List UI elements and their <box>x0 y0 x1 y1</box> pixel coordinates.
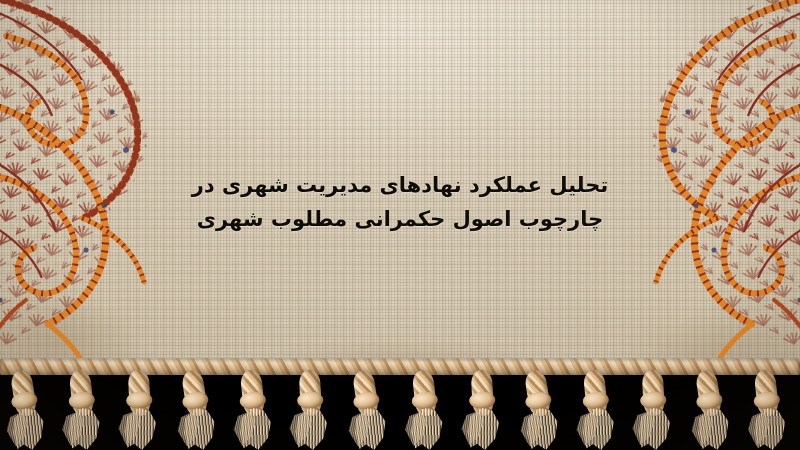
title-line-1: تحلیل عملکرد نهادهای مدیریت شهری در <box>150 168 650 202</box>
tassel <box>400 368 458 450</box>
tassel <box>340 367 402 450</box>
tassel-fringe <box>0 368 800 450</box>
tassel <box>169 367 231 450</box>
tassel <box>683 367 745 450</box>
tassel <box>283 367 345 450</box>
tassel <box>626 367 688 450</box>
tassel <box>228 368 286 450</box>
tassel <box>0 367 60 450</box>
tassel <box>112 367 174 450</box>
title-line-2: چارچوب اصول حکمرانی مطلوب شهری <box>150 202 650 236</box>
tassel <box>512 367 574 450</box>
tassel <box>571 368 629 450</box>
tassel <box>455 367 517 450</box>
slide-canvas: تحلیل عملکرد نهادهای مدیریت شهری در چارچ… <box>0 0 800 450</box>
tassel <box>742 368 800 450</box>
tassel <box>57 368 115 450</box>
slide-title: تحلیل عملکرد نهادهای مدیریت شهری در چارچ… <box>150 168 650 236</box>
